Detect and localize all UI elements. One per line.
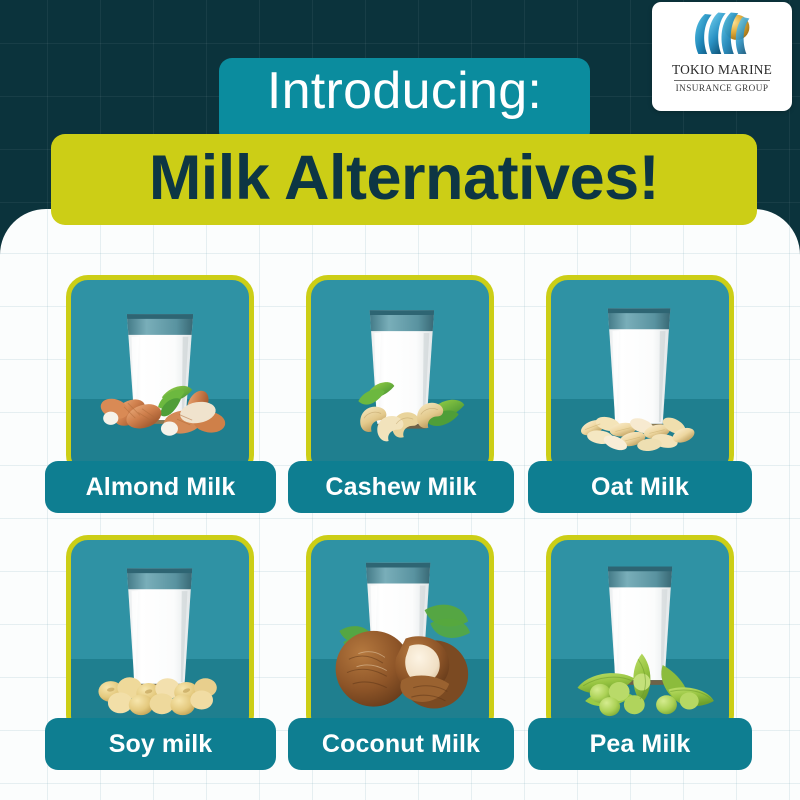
coconut-milk-illustration	[311, 540, 489, 731]
card-almond-milk[interactable]	[66, 275, 254, 477]
label-text: Almond Milk	[86, 473, 236, 502]
label-text: Pea Milk	[590, 730, 691, 759]
soy-milk-illustration	[71, 540, 249, 731]
pea-milk-illustration	[551, 540, 729, 731]
almond-milk-illustration	[71, 280, 249, 471]
milk-alternatives-grid: Almond Milk	[0, 0, 800, 800]
card-label-almond-milk[interactable]: Almond Milk	[45, 461, 276, 513]
card-label-oat-milk[interactable]: Oat Milk	[528, 461, 752, 513]
card-label-coconut-milk[interactable]: Coconut Milk	[288, 718, 514, 770]
label-text: Cashew Milk	[325, 473, 476, 502]
card-oat-milk[interactable]	[546, 275, 734, 477]
label-text: Soy milk	[109, 730, 213, 759]
label-text: Oat Milk	[591, 473, 689, 502]
cashew-milk-illustration	[311, 280, 489, 471]
card-coconut-milk[interactable]	[306, 535, 494, 737]
card-label-soy-milk[interactable]: Soy milk	[45, 718, 276, 770]
card-label-pea-milk[interactable]: Pea Milk	[528, 718, 752, 770]
poster-canvas: TOKIO MARINE INSURANCE GROUP Introducing…	[0, 0, 800, 800]
card-cashew-milk[interactable]	[306, 275, 494, 477]
label-text: Coconut Milk	[322, 730, 480, 759]
card-soy-milk[interactable]	[66, 535, 254, 737]
oat-milk-illustration	[551, 280, 729, 471]
card-label-cashew-milk[interactable]: Cashew Milk	[288, 461, 514, 513]
card-pea-milk[interactable]	[546, 535, 734, 737]
